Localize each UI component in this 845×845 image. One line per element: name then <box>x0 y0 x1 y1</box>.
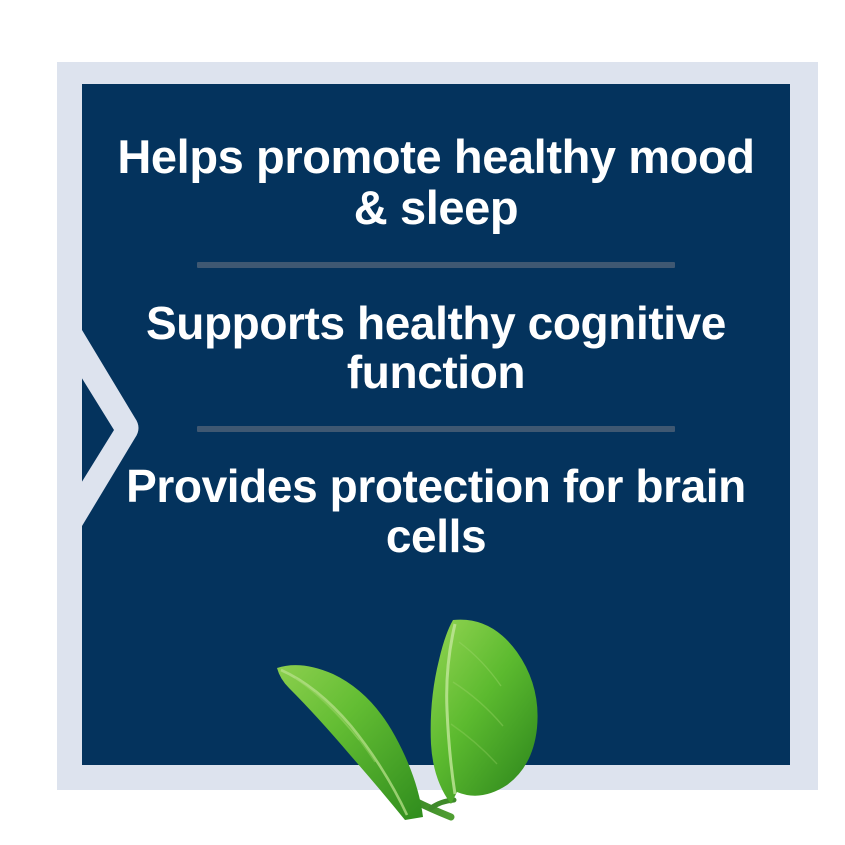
benefit-item-mood-sleep: Helps promote healthy mood & sleep <box>116 132 756 234</box>
benefits-content: Helps promote healthy mood & sleep Suppo… <box>82 84 790 765</box>
benefit-divider-2 <box>197 426 675 432</box>
image-canvas: Helps promote healthy mood & sleep Suppo… <box>0 0 845 845</box>
benefit-item-brain-cells: Provides protection for brain cells <box>116 462 756 561</box>
benefit-divider-1 <box>197 262 675 268</box>
benefit-item-cognitive-function: Supports healthy cognitive function <box>116 299 756 398</box>
